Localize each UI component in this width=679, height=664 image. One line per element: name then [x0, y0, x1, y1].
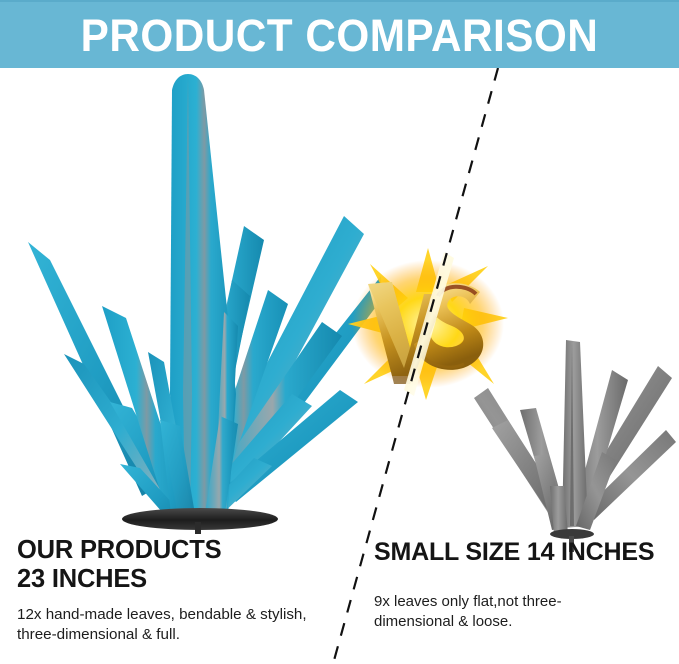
left-headline: OUR PRODUCTS 23 INCHES [17, 536, 357, 594]
header-banner: PRODUCT COMPARISON [0, 0, 679, 68]
right-headline: SMALL SIZE 14 INCHES [374, 538, 674, 567]
agave-leaves-gray [474, 340, 676, 534]
large-agave-image [0, 68, 382, 534]
small-agave-image [462, 336, 679, 556]
agave-leaves-teal [28, 74, 381, 528]
left-product-copy: OUR PRODUCTS 23 INCHES 12x hand-made lea… [17, 536, 357, 645]
right-description: 9x leaves only flat,not three- dimension… [374, 592, 674, 632]
comparison-stage: OUR PRODUCTS 23 INCHES 12x hand-made lea… [0, 68, 679, 664]
right-product-copy: SMALL SIZE 14 INCHES 9x leaves only flat… [374, 538, 674, 632]
agave-base-disc [122, 508, 278, 534]
left-description: 12x hand-made leaves, bendable & stylish… [17, 605, 357, 645]
page-title: PRODUCT COMPARISON [20, 2, 658, 70]
